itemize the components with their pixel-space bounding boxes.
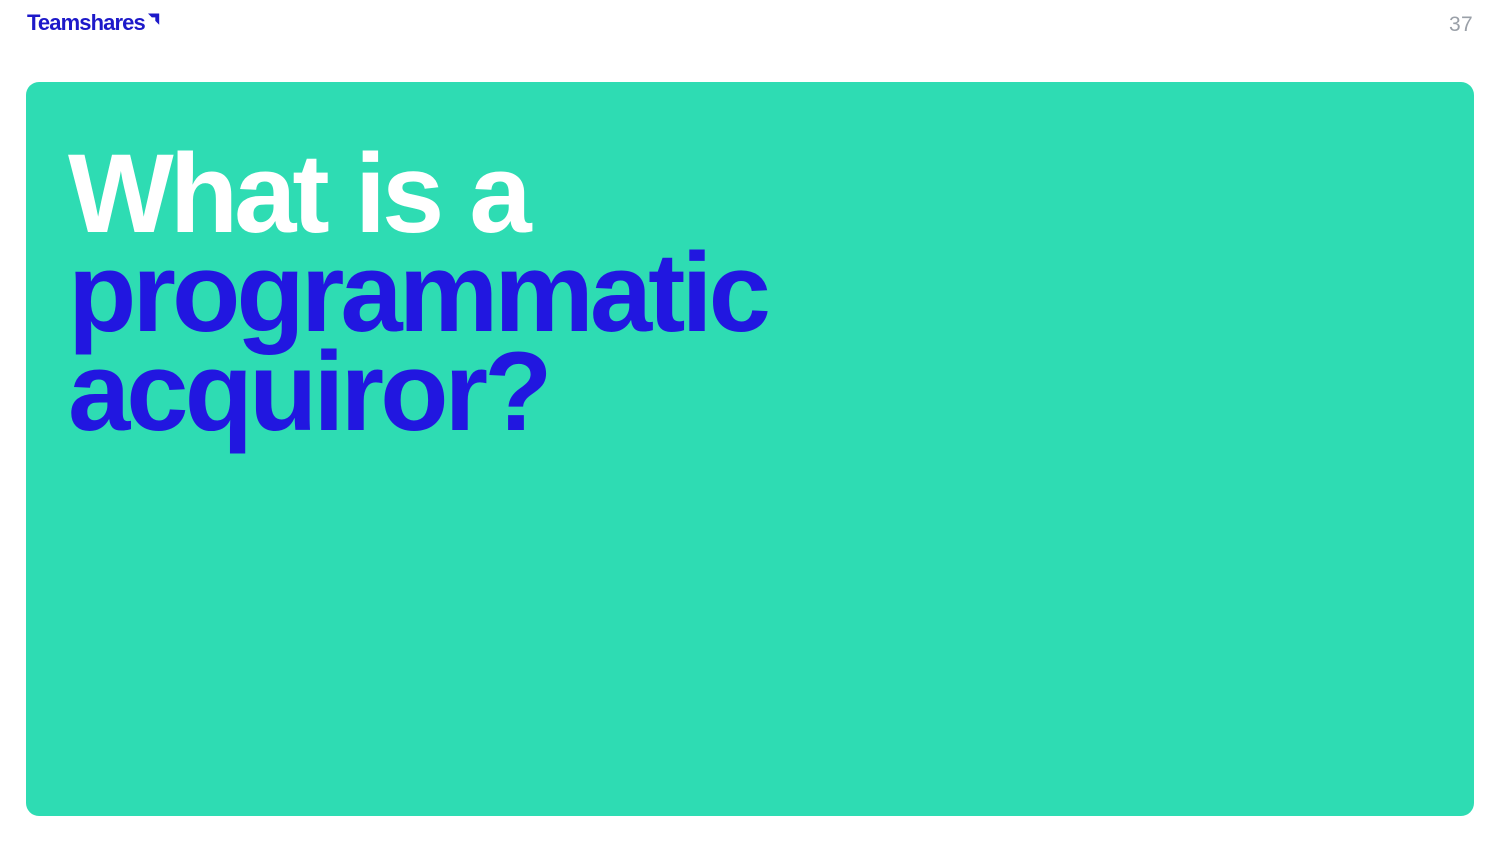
slide-title-line-3: acquiror? — [68, 342, 1408, 441]
teamshares-logo[interactable]: Teamshares — [27, 12, 161, 34]
teamshares-corner-mark-icon — [146, 12, 161, 27]
slide-title-line-1: What is a — [68, 144, 1408, 243]
page-number: 37 — [1413, 12, 1473, 38]
slide-canvas: Teamshares 37 What is a programmatic acq… — [0, 0, 1500, 843]
slide-title: What is a programmatic acquiror? — [68, 144, 1408, 441]
slide-header: Teamshares 37 — [0, 0, 1500, 82]
content-card: What is a programmatic acquiror? — [26, 82, 1474, 816]
logo-wordmark: Teamshares — [27, 12, 145, 34]
card-body: What is a programmatic acquiror? — [26, 82, 1474, 816]
slide-title-line-2: programmatic — [68, 243, 1408, 342]
